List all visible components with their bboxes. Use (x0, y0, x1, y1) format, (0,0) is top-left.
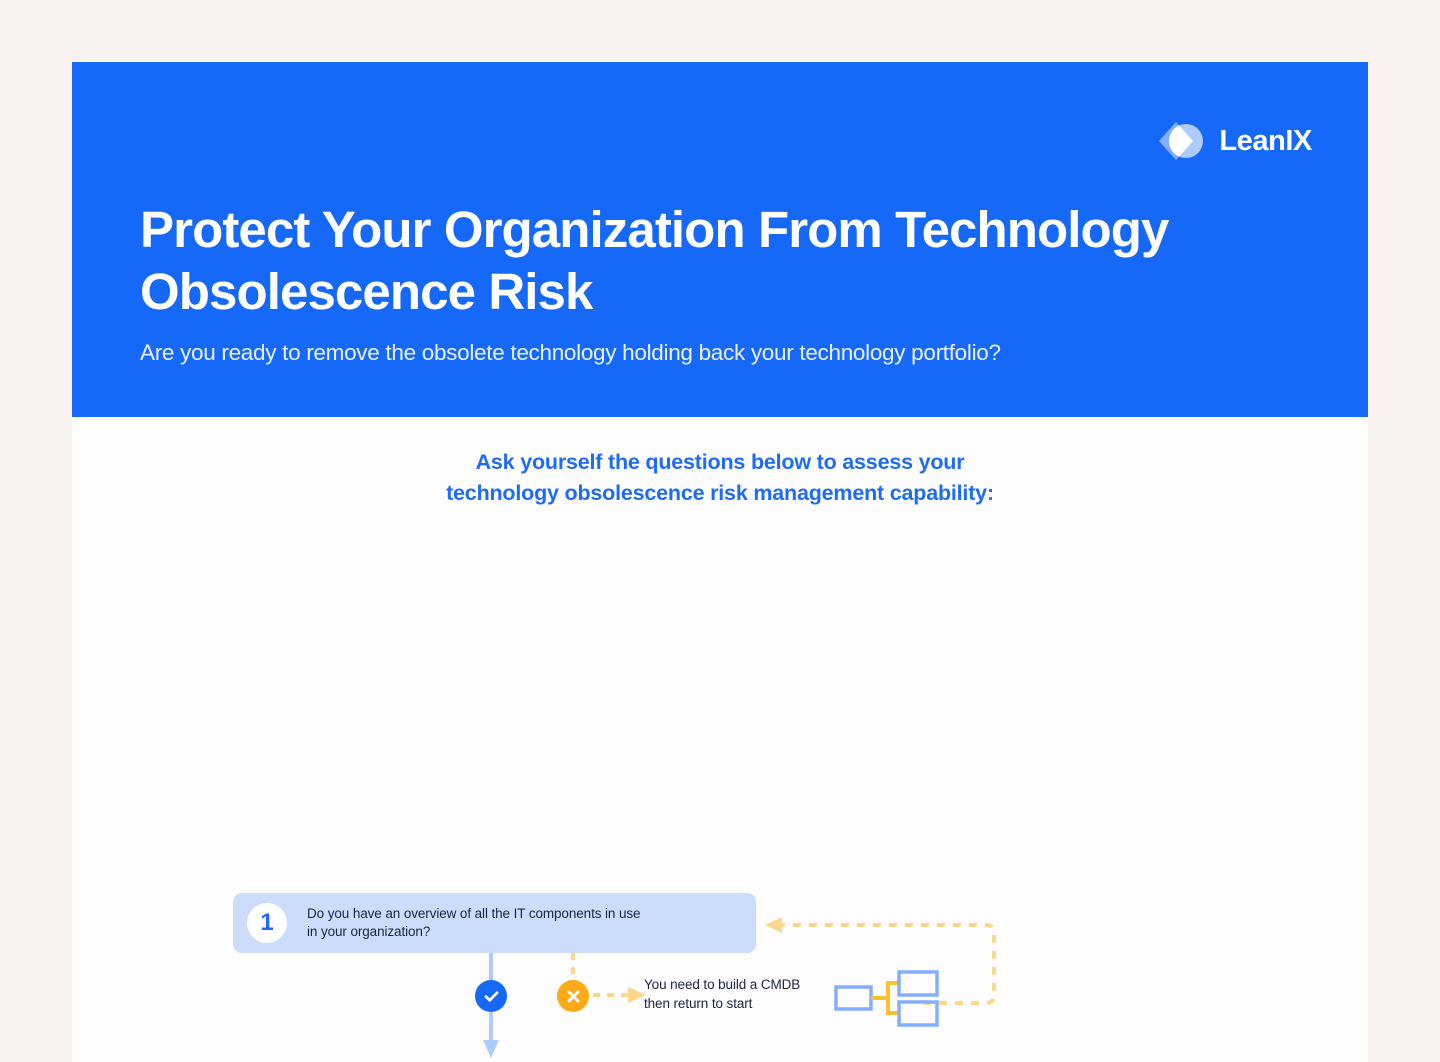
question-text-1-line-2: in your organization? (307, 923, 640, 941)
check-icon-1 (475, 980, 507, 1012)
question-box-1[interactable]: 1 Do you have an overview of all the IT … (233, 893, 756, 953)
question-number-1: 1 (247, 903, 287, 943)
question-text-1-line-1: Do you have an overview of all the IT co… (307, 905, 640, 923)
leanix-logo-mark (1159, 118, 1205, 164)
leanix-logo[interactable]: LeanIX (1159, 118, 1312, 164)
flow-body: Ask yourself the questions below to asse… (72, 417, 1368, 1062)
page-subtitle: Are you ready to remove the obsolete tec… (140, 340, 1001, 366)
flow-connectors (72, 417, 1368, 1062)
section-heading: Ask yourself the questions below to asse… (72, 447, 1368, 509)
cmdb-tree-illustration (836, 972, 937, 1025)
advice-text-1: You need to build a CMDB then return to … (644, 975, 800, 1013)
infographic-card: LeanIX Protect Your Organization From Te… (72, 62, 1368, 1062)
cross-icon-1 (557, 980, 589, 1012)
leanix-logo-text: LeanIX (1219, 125, 1312, 158)
section-heading-line-2: technology obsolescence risk management … (72, 478, 1368, 509)
hero-banner: LeanIX Protect Your Organization From Te… (72, 62, 1368, 417)
section-heading-line-1: Ask yourself the questions below to asse… (72, 447, 1368, 478)
advice-text-1-line-1: You need to build a CMDB (644, 975, 800, 994)
page-title: Protect Your Organization From Technolog… (140, 199, 1320, 323)
advice-text-1-line-2: then return to start (644, 994, 800, 1013)
question-text-1: Do you have an overview of all the IT co… (307, 905, 640, 941)
